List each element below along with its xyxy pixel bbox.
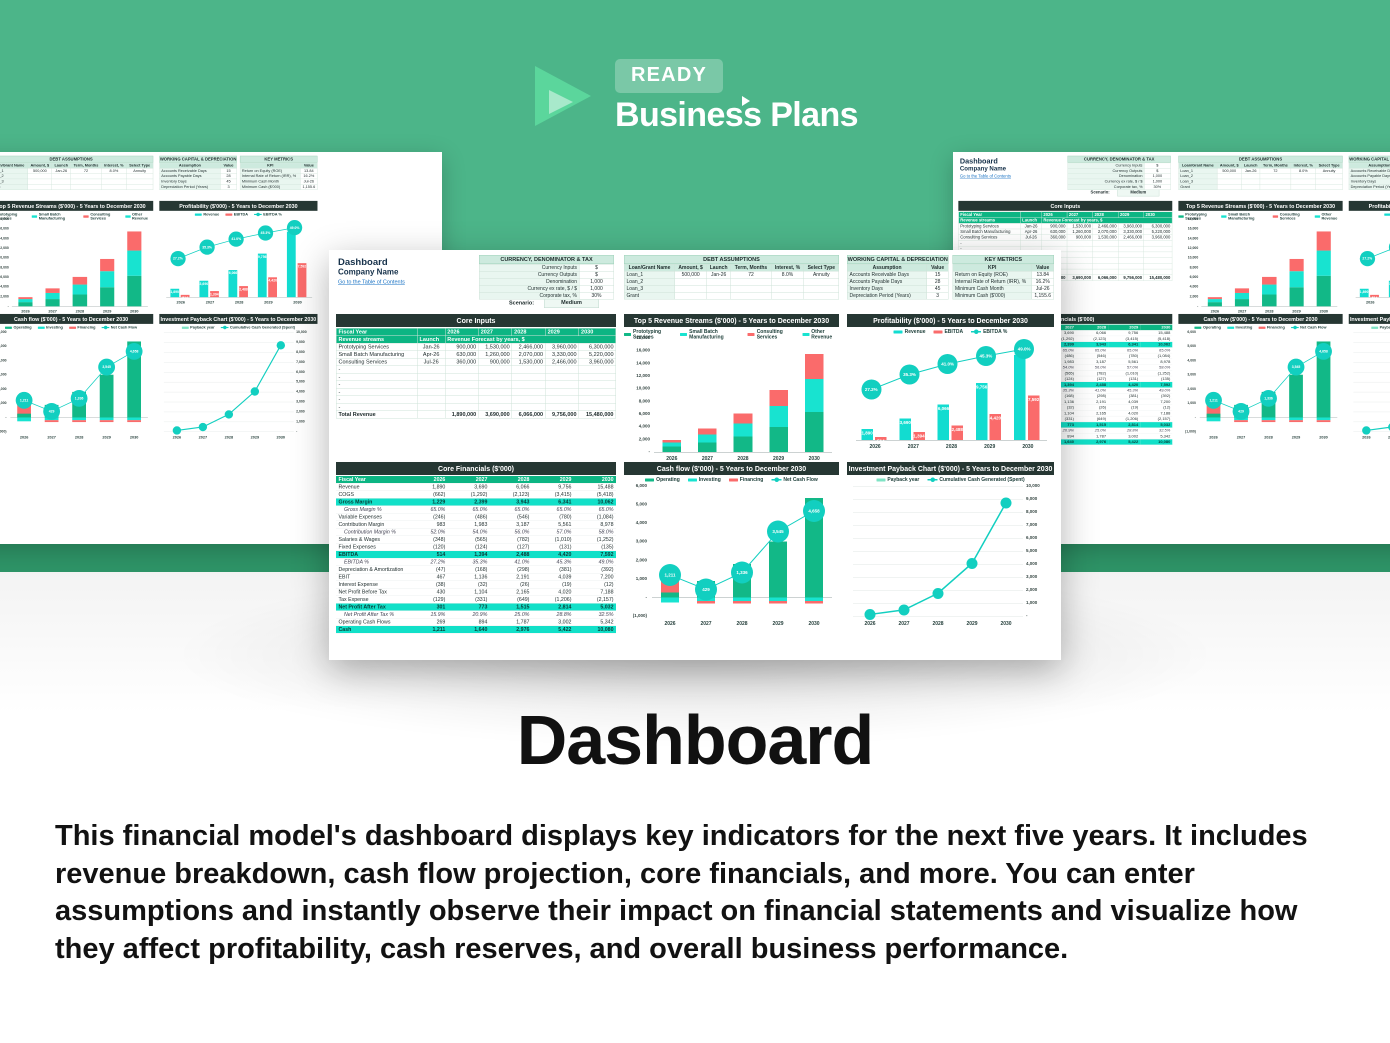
column-header: Term, Months — [731, 264, 771, 271]
total-value: 15,480,000 — [579, 411, 616, 419]
y-tick-label: 14,000 — [0, 236, 9, 240]
stream-value — [478, 381, 511, 389]
legend-swatch — [83, 215, 88, 217]
stream-value: 630,000 — [445, 351, 478, 359]
row-value: 1,983 — [448, 521, 490, 529]
stream-name: - — [336, 396, 417, 404]
row-value: (12) — [574, 581, 616, 589]
legend-swatch — [876, 478, 885, 481]
bar-segment — [100, 271, 114, 287]
brand-name: Business Plans — [615, 98, 858, 134]
x-tick-label: 2029 — [760, 621, 796, 627]
row-value: 8,978 — [574, 521, 616, 529]
table-cell: Accounts Payable Days — [847, 278, 927, 285]
legend-item: Operating — [5, 325, 31, 329]
net-cash-flow-marker: 4,658 — [1315, 343, 1332, 360]
core-inputs-header: Core Inputs — [958, 201, 1172, 211]
table-row: Minimum Cash ($'000)1,155.6 — [953, 292, 1054, 299]
year-header: 2026 — [445, 328, 478, 336]
chart-legend: Revenue EBITDA EBITDA % — [159, 211, 317, 217]
row-label: Currency Inputs — [479, 264, 579, 271]
y-tick-label: 4,000 — [1178, 285, 1198, 289]
row-label: Gross Margin % — [336, 506, 406, 514]
net-cash-flow-marker: 3,545 — [98, 359, 115, 376]
table-row: Net Profit Before Tax4301,1042,1654,0207… — [336, 588, 616, 596]
row-label: Variable Expenses — [336, 513, 406, 521]
year-header: 2028 — [490, 476, 532, 483]
row-value: 514 — [406, 551, 448, 559]
year-header: 2030 — [574, 476, 616, 483]
legend-swatch — [1258, 326, 1265, 328]
row-value: 4,420 — [532, 551, 574, 559]
x-tick-label: 2026 — [166, 300, 195, 304]
row-label: Revenue — [336, 483, 406, 491]
legend-item: Revenue — [1384, 212, 1390, 216]
year-header: 2027 — [478, 328, 511, 336]
table-cell: Loan_1 — [624, 271, 675, 278]
sheet-company: Company Name — [960, 166, 1006, 173]
legend-item: Payback year — [1371, 325, 1390, 329]
x-tick-label: 2030 — [120, 435, 148, 439]
y-tick-label: 2,000 — [624, 436, 650, 441]
legend-label: Financing — [1267, 325, 1285, 329]
x-tick-label: 2027 — [1385, 300, 1390, 304]
chart-title: Investment Payback Chart ($'000) - 5 Yea… — [847, 462, 1054, 475]
table-row: Gross Margin1,2292,3993,9436,34110,062 — [336, 498, 616, 506]
legend-swatch — [1195, 326, 1202, 328]
row-value: 894 — [448, 618, 490, 626]
panel-header: DEBT ASSUMPTIONS — [0, 156, 153, 163]
table-row: Depreciation Period (Years)3 — [160, 184, 237, 189]
y-tick-label: 2,000 — [1178, 294, 1198, 298]
legend-swatch — [802, 333, 809, 336]
table-row: - — [336, 381, 616, 389]
table-row: Corporate tax, %30% — [479, 292, 614, 299]
row-value: 5,342 — [574, 618, 616, 626]
x-tick-label: 2028 — [1255, 435, 1283, 439]
chart-title: Profitability ($'000) - 5 Years to Decem… — [159, 201, 317, 211]
investment-payback-chart: Investment Payback Chart ($'000) - 5 Yea… — [847, 462, 1054, 632]
page-title: Dashboard — [0, 700, 1390, 780]
table-row: Corporate tax, %30% — [1068, 184, 1171, 189]
table-row: Consulting Services Jul-26360,000900,000… — [959, 235, 1173, 241]
row-value: (486) — [448, 513, 490, 521]
x-tick-label: 2030 — [121, 309, 148, 313]
toc-link[interactable]: Go to the Table of Contents — [960, 174, 1011, 179]
table-cell: Internal Rate of Return (IRR), % — [953, 278, 1032, 285]
bar-segment — [769, 427, 788, 452]
row-value: 57.0% — [532, 528, 574, 536]
table-row: Interest Expense(38)(32)(26)(19)(12) — [336, 581, 616, 589]
bar-segment — [127, 276, 141, 306]
legend-swatch — [102, 327, 110, 328]
table-cell: Accounts Receivable Days — [1349, 168, 1390, 173]
working-capital-panel: WORKING CAPITAL & DEPRECIATIONAssumption… — [847, 255, 949, 300]
legend-item: Revenue — [894, 329, 926, 335]
bar-segment — [698, 429, 717, 435]
chart-title: Investment Payback Chart ($'000) - 5 Yea… — [1349, 314, 1390, 324]
x-tick-label: 2030 — [1310, 435, 1338, 439]
net-cash-flow-marker: 429 — [1233, 403, 1250, 420]
chart-title: Profitability ($'000) - 5 Years to Decem… — [847, 314, 1054, 327]
total-row: Total Revenue1,890,0003,690,0006,066,000… — [336, 411, 616, 419]
page-description: This financial model's dashboard display… — [55, 818, 1340, 969]
table-cell: Inventory Days — [847, 285, 927, 292]
row-value: 10,080 — [1140, 439, 1172, 445]
row-value: 5,422 — [1108, 439, 1140, 445]
y-tick-label: 8,000 — [624, 398, 650, 403]
table-cell: Accounts Payable Days — [1349, 174, 1390, 179]
table-row: Net Profit After Tax %15.9%20.9%25.0%28.… — [336, 611, 616, 619]
table-cell — [675, 285, 707, 292]
investment-payback-chart: Investment Payback Chart ($'000) - 5 Yea… — [159, 314, 317, 444]
row-label: Currency ex rate, $ / $ — [479, 285, 579, 292]
legend-label: Cumulative Cash Generated (Spent) — [230, 325, 295, 329]
bar-segment — [698, 442, 717, 452]
x-tick-label: 2028 — [225, 300, 254, 304]
stream-value: 1,530,000 — [478, 343, 511, 351]
x-tick-label: 2029 — [254, 300, 283, 304]
bar-segment — [1289, 271, 1303, 287]
x-tick-label: 2026 — [652, 621, 688, 627]
table-cell: Minimum Cash ($'000) — [240, 184, 300, 189]
x-tick-label: 2028 — [724, 621, 760, 627]
stream-value — [545, 403, 578, 411]
table-cell: Grant — [1179, 184, 1218, 189]
legend-swatch — [1315, 215, 1320, 217]
table-row: Internal Rate of Return (IRR), %16.2% — [953, 278, 1054, 285]
column-header: Launch — [706, 264, 730, 271]
row-value: 4,039 — [532, 573, 574, 581]
row-value: 1,000 — [579, 278, 614, 285]
stream-value — [445, 366, 478, 374]
table-cell: 8.0% — [771, 271, 804, 278]
x-tick-label: 2026 — [164, 435, 190, 439]
streams-label: Revenue streams — [336, 336, 417, 344]
bar-segment — [1262, 277, 1276, 284]
table-cell: 500,000 — [675, 271, 707, 278]
column-header: Amount, $ — [675, 264, 707, 271]
row-value: 54.0% — [448, 528, 490, 536]
row-value: (649) — [490, 596, 532, 604]
row-value: $ — [579, 271, 614, 278]
cumulative-cash-marker — [967, 558, 978, 569]
legend-item: Net Cash Flow — [771, 477, 817, 483]
y-tick-label: 10,000 — [0, 256, 9, 260]
chart-title: Investment Payback Chart ($'000) - 5 Yea… — [159, 314, 317, 324]
row-value: 2,399 — [448, 498, 490, 506]
row-value: (127) — [490, 543, 532, 551]
chart-legend: Payback year Cumulative Cash Generated (… — [159, 324, 317, 330]
bar-segment — [1235, 288, 1249, 292]
bar-segment — [1235, 293, 1249, 299]
row-label: Contribution Margin % — [336, 528, 406, 536]
ebitda-pct-marker: 45.3% — [258, 225, 273, 240]
sheet-company: Company Name — [338, 268, 398, 277]
row-label: EBITDA — [336, 551, 406, 559]
fiscal-year-label: Fiscal Year — [336, 476, 406, 483]
table-row: Internal Rate of Return (IRR), %16.2% — [240, 174, 317, 179]
chart-title: Top 5 Revenue Streams ($'000) - 5 Years … — [0, 201, 153, 211]
table-cell — [706, 285, 730, 292]
stream-value — [545, 366, 578, 374]
x-tick-label: 2030 — [796, 621, 832, 627]
table-cell — [804, 278, 839, 285]
total-value: 6,066,000 — [512, 411, 545, 419]
x-tick-label: 2027 — [190, 435, 216, 439]
stream-launch: Jul-26 — [417, 358, 445, 366]
x-tick-label: 2027 — [1227, 435, 1255, 439]
table-row: Contribution Margin9831,9833,1875,5618,9… — [336, 521, 616, 529]
total-value: 3,690,000 — [478, 411, 511, 419]
legend-label: EBITDA % — [263, 212, 282, 216]
year-header: 2029 — [532, 476, 574, 483]
y-tick-label: 10,000 — [624, 386, 650, 391]
table-cell: Depreciation Period (Years) — [847, 292, 927, 299]
table-cell — [1316, 184, 1343, 189]
table-cell: 45 — [927, 285, 948, 292]
stream-value — [579, 373, 616, 381]
column-header: Select Type — [804, 264, 839, 271]
table-row: Denomination1,000 — [479, 278, 614, 285]
table-row: EBITDA %27.2%35.3%41.0%45.3%49.0% — [336, 558, 616, 566]
stream-value — [545, 388, 578, 396]
stream-value — [512, 381, 545, 389]
legend-swatch — [1384, 213, 1390, 215]
legend-item: Investing — [1227, 325, 1252, 329]
panel-header: DEBT ASSUMPTIONS — [624, 255, 839, 264]
table-row: Grant — [0, 184, 153, 189]
bar-segment — [73, 294, 87, 306]
row-value: 4,020 — [532, 588, 574, 596]
stream-launch — [417, 373, 445, 381]
debt-panel: DEBT ASSUMPTIONSLoan/Grant NameAmount, $… — [624, 255, 839, 300]
cumulative-cash-marker — [933, 588, 944, 599]
brand-name-text: Business Plans — [615, 96, 858, 134]
screenshot-center: DashboardCompany NameGo to the Table of … — [329, 250, 1061, 660]
legend-swatch — [69, 326, 76, 328]
row-value: 30% — [579, 292, 614, 299]
net-cash-flow-marker: 1,336 — [71, 390, 88, 407]
stream-value: 900,000 — [478, 358, 511, 366]
legend-item: Operating — [1195, 325, 1221, 329]
column-header: Select Type — [1316, 163, 1343, 168]
table-cell: 1,155.6 — [1032, 292, 1054, 299]
stream-value — [545, 381, 578, 389]
row-value: 6,066 — [490, 483, 532, 491]
column-header: Interest, % — [101, 163, 126, 168]
bar-segment — [1289, 259, 1303, 271]
x-tick-label: 2026 — [1353, 435, 1379, 439]
row-label: EBIT — [336, 573, 406, 581]
bar-segment — [1208, 297, 1222, 299]
bar-segment — [663, 446, 682, 452]
total-label: Total Revenue — [336, 411, 417, 419]
column-header: Select Type — [126, 163, 153, 168]
panel-header: CURRENCY, DENOMINATOR & TAX — [1068, 156, 1171, 163]
row-value: (32) — [448, 581, 490, 589]
net-cash-flow-marker: 429 — [695, 578, 717, 600]
table-row: Fixed Expenses(120)(124)(127)(131)(135) — [336, 543, 616, 551]
row-value: 773 — [448, 603, 490, 611]
net-cash-flow-marker: 1,336 — [1260, 390, 1277, 407]
legend-swatch — [971, 331, 981, 333]
table-cell: 13.84 — [1032, 271, 1054, 278]
x-tick-label: 2026 — [12, 309, 39, 313]
row-value: 2,165 — [490, 588, 532, 596]
chart-title: Cash flow ($'000) - 5 Years to December … — [0, 314, 153, 324]
legend-item: Net Cash Flow — [102, 325, 137, 329]
table-row: Accounts Receivable Days15 — [847, 271, 948, 278]
play-triangle-icon — [525, 58, 601, 134]
toc-link[interactable]: Go to the Table of Contents — [338, 279, 405, 285]
stream-value: 1,260,000 — [478, 351, 511, 359]
column-header: Interest, % — [1291, 163, 1316, 168]
bar-segment — [127, 231, 141, 250]
table-row: Depreciation Period (Years)3 — [1349, 184, 1390, 189]
y-tick-label: 18,000 — [0, 217, 9, 221]
row-value: 10,062 — [574, 498, 616, 506]
table-row: Return on Equity (ROE)13.84 — [240, 168, 317, 173]
table-cell — [706, 292, 730, 299]
column-header: Interest, % — [771, 264, 804, 271]
legend-label: Cumulative Cash Generated (Spent) — [939, 477, 1024, 483]
table-cell: Loan_3 — [624, 285, 675, 292]
legend-label: Payback year — [190, 325, 214, 329]
legend-swatch — [771, 479, 781, 481]
y-tick-label: 14,000 — [624, 360, 650, 365]
legend-swatch — [221, 327, 229, 328]
x-tick-label: 2030 — [1009, 444, 1047, 450]
x-tick-label: 2030 — [283, 300, 312, 304]
ebitda-pct-marker: 27.2% — [861, 380, 881, 400]
column-header: Launch — [52, 163, 71, 168]
y-tick-label: 10,000 — [1178, 256, 1198, 260]
legend-item: Payback year — [876, 477, 919, 483]
bar-segment — [1317, 276, 1331, 306]
row-value: 7,188 — [574, 588, 616, 596]
y-tick-label: - — [624, 449, 650, 454]
table-cell: 28 — [927, 278, 948, 285]
i-dot-triangle-icon — [742, 96, 750, 106]
x-tick-label: 2028 — [65, 435, 93, 439]
bar-segment — [100, 259, 114, 271]
poster-root: READY Business Plans DashboardCompany Na… — [0, 0, 1390, 1043]
legend-label: Payback year — [1380, 325, 1390, 329]
stream-value — [445, 373, 478, 381]
stream-name: - — [336, 381, 417, 389]
year-header: 2027 — [448, 476, 490, 483]
panel-header: KEY METRICS — [240, 156, 318, 163]
total-value: 9,756,000 — [545, 411, 578, 419]
top5-revenue-chart: Top 5 Revenue Streams ($'000) - 5 Years … — [1178, 201, 1342, 308]
table-cell — [28, 184, 52, 189]
table-row: Loan_3 — [624, 285, 839, 292]
row-value: 1,229 — [406, 498, 448, 506]
table-cell: Minimum Cash Month — [953, 285, 1032, 292]
row-value: (131) — [532, 543, 574, 551]
table-row: EBIT4671,1362,1914,0397,200 — [336, 573, 616, 581]
table-cell — [731, 278, 771, 285]
y-tick-label: 4,000 — [624, 424, 650, 429]
bar-segment — [663, 440, 682, 442]
legend-label: EBITDA — [944, 329, 963, 335]
row-value: 430 — [406, 588, 448, 596]
legend-label: Financing — [740, 477, 764, 483]
panel-header: WORKING CAPITAL & DEPRECIATION — [1349, 156, 1390, 163]
bar-segment — [805, 379, 824, 412]
spreadsheet-dashboard: DashboardCompany NameGo to the Table of … — [329, 250, 1061, 660]
y-tick-label: 6,000 — [624, 411, 650, 416]
column-header: Term, Months — [1260, 163, 1291, 168]
working-capital-panel: WORKING CAPITAL & DEPRECIATIONAssumption… — [1349, 156, 1390, 190]
net-cash-flow-marker: 429 — [43, 403, 60, 420]
y-tick-label: 4,000 — [0, 285, 9, 289]
row-label: Interest Expense — [336, 581, 406, 589]
row-label: Operating Cash Flows — [336, 618, 406, 626]
net-cash-flow-marker: 1,211 — [1205, 392, 1222, 409]
table-cell — [804, 292, 839, 299]
x-tick-label: 2026 — [856, 444, 894, 450]
row-value: (38) — [406, 581, 448, 589]
stream-value — [512, 388, 545, 396]
row-value: 1,394 — [448, 551, 490, 559]
bar-segment — [734, 436, 753, 452]
table-cell — [1291, 184, 1316, 189]
legend-label: Payback year — [887, 477, 919, 483]
stream-name: - — [336, 373, 417, 381]
column-header: Term, Months — [71, 163, 102, 168]
legend-swatch — [894, 330, 903, 333]
legend-label: Net Cash Flow — [783, 477, 817, 483]
row-value: (1,084) — [574, 513, 616, 521]
legend-item: EBITDA % — [254, 212, 282, 216]
ready-badge: READY — [615, 59, 723, 93]
scenario-label: Scenario: — [509, 300, 534, 306]
row-value: 25.0% — [490, 611, 532, 619]
table-cell: Return on Equity (ROE) — [953, 271, 1032, 278]
net-cash-flow-marker: 3,545 — [767, 521, 789, 543]
row-label: Net Profit After Tax — [336, 603, 406, 611]
chart-title: Cash flow ($'000) - 5 Years to December … — [624, 462, 839, 475]
net-cash-flow-marker: 3,545 — [1288, 359, 1305, 376]
cumulative-cash-line — [847, 486, 1054, 616]
row-value: (298) — [490, 566, 532, 574]
row-value: (26) — [490, 581, 532, 589]
ebitda-pct-marker: 41.0% — [938, 354, 958, 374]
year-header: 2029 — [545, 328, 578, 336]
net-cash-flow-marker: 1,211 — [659, 564, 681, 586]
legend-item: Payback year — [182, 325, 215, 329]
x-tick-label: 2028 — [932, 444, 970, 450]
column-header: Loan/Grant Name — [1179, 163, 1218, 168]
table-row: Prototyping Services Jan-26900,0001,530,… — [959, 223, 1173, 229]
row-value: (1,206) — [532, 596, 574, 604]
total-value: 3,690,000 — [1067, 275, 1093, 281]
x-tick-label: 2027 — [688, 621, 724, 627]
wc-kpi-strip: WORKING CAPITAL & DEPRECIATIONAssumption… — [1349, 156, 1390, 190]
row-value: (782) — [490, 536, 532, 544]
stream-value — [445, 381, 478, 389]
table-cell — [675, 292, 707, 299]
row-value: 2,976 — [1076, 439, 1108, 445]
table-row: Currency ex rate, $ / $1,000 — [479, 285, 614, 292]
profitability-chart: Profitability ($'000) - 5 Years to Decem… — [159, 201, 317, 308]
working-capital-panel: WORKING CAPITAL & DEPRECIATIONAssumption… — [159, 156, 237, 190]
bar-segment — [46, 293, 60, 299]
x-tick-label: 2028 — [216, 435, 242, 439]
x-tick-label: 2027 — [894, 444, 932, 450]
